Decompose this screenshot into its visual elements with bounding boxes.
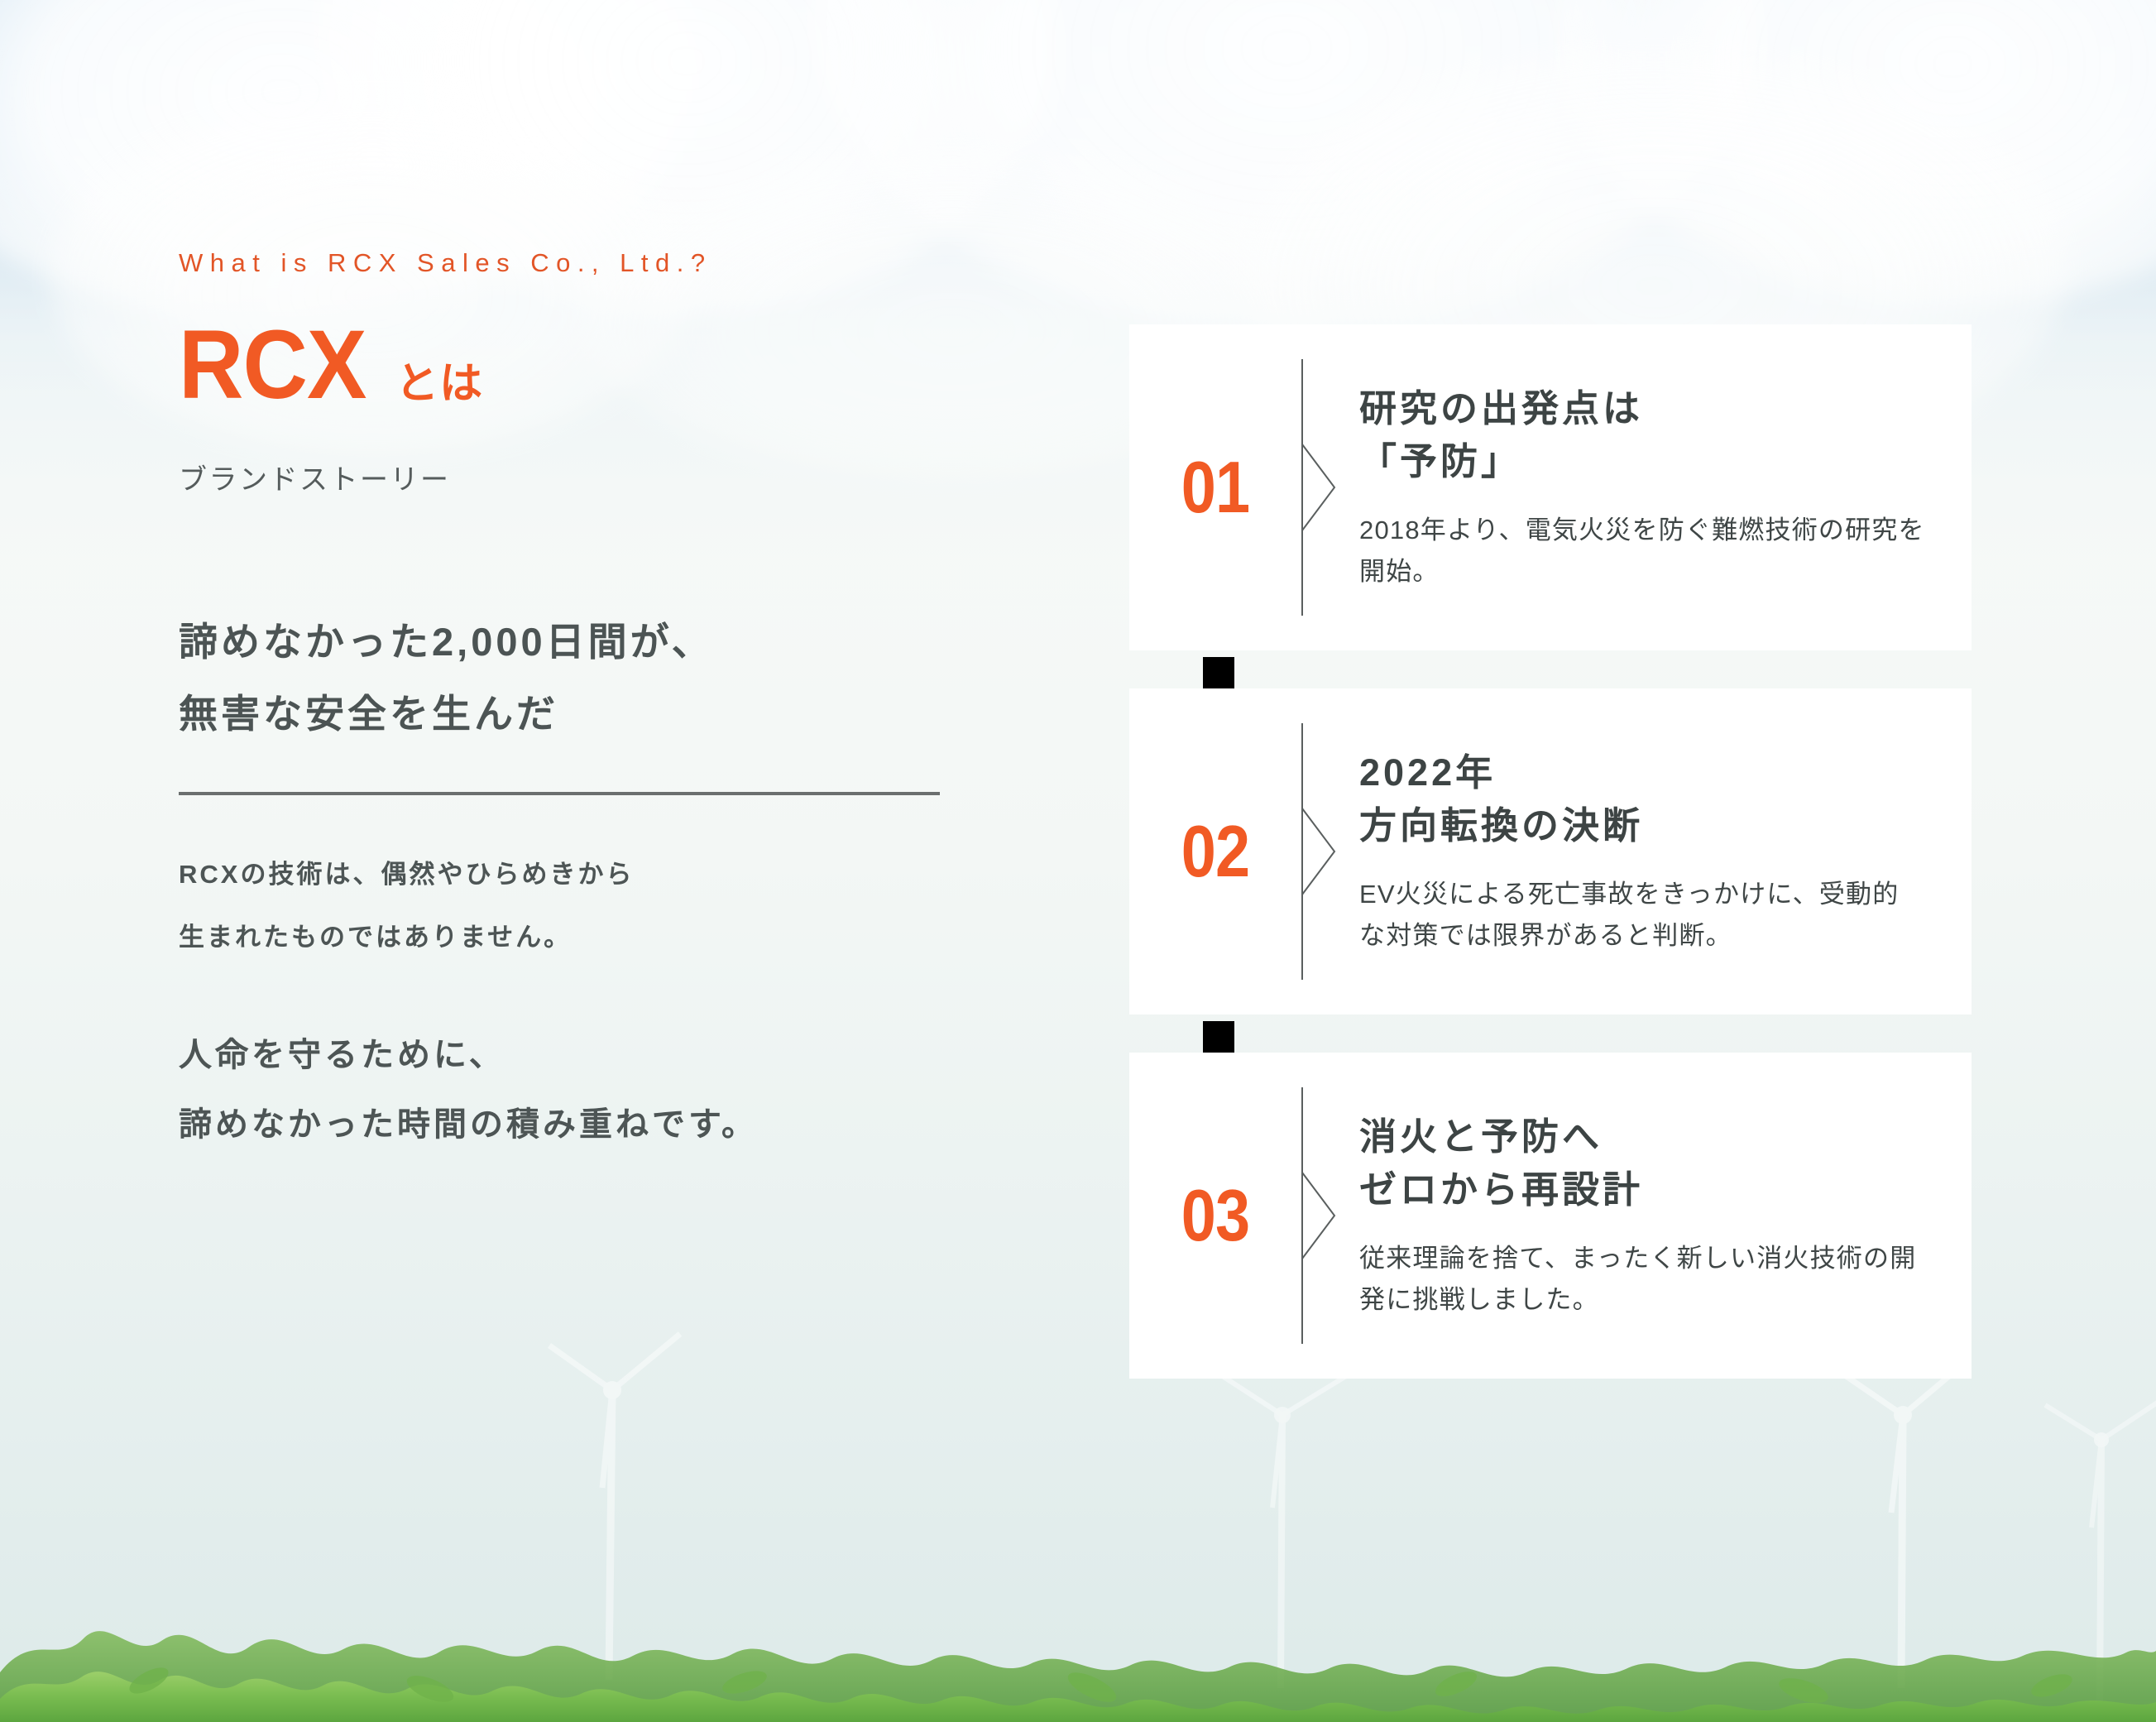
timeline-card-description: 従来理論を捨て、まったく新しい消火技術の開発に挑戦しました。	[1359, 1238, 1925, 1321]
timeline-card-title-line: 「予防」	[1359, 435, 1925, 488]
timeline-card-description: EV火災による死亡事故をきっかけに、受動的な対策では限界があると判断。	[1359, 874, 1925, 957]
timeline-card-title: 消火と予防へ ゼロから再設計	[1359, 1110, 1925, 1216]
body-paragraph-line: RCXの技術は、偶然やひらめきから	[179, 843, 1056, 906]
page-subtitle: ブランドストーリー	[179, 457, 1056, 497]
lede-line: 無害な安全を生んだ	[179, 679, 1056, 751]
closing-paragraph-line: 人命を守るために、	[179, 1020, 1056, 1090]
timeline-card-separator	[1301, 1087, 1344, 1344]
timeline-connector-square	[1203, 1021, 1234, 1053]
timeline-connector-square	[1203, 657, 1234, 688]
lede-block: 諦めなかった2,000日間が、 無害な安全を生んだ	[179, 607, 1056, 751]
timeline-card-number: 02	[1142, 809, 1290, 894]
timeline-card-title-line: ゼロから再設計	[1359, 1163, 1925, 1216]
timeline-card-title-line: 研究の出発点は	[1359, 382, 1925, 435]
timeline-card-number: 03	[1142, 1173, 1290, 1258]
timeline-card[interactable]: 03 消火と予防へ ゼロから再設計 従来理論を捨て、まったく新しい消火技術の開発…	[1129, 1053, 1972, 1379]
page-title-suffix: とは	[395, 348, 483, 410]
timeline-card-separator	[1301, 359, 1344, 616]
page-title-main: RCX	[179, 316, 366, 414]
page-title: RCX とは	[179, 316, 1056, 414]
closing-paragraph: 人命を守るために、 諦めなかった時間の積み重ねです。	[179, 1020, 1056, 1159]
chevron-right-icon	[1301, 443, 1338, 532]
foliage-band	[0, 1507, 2156, 1722]
slide-canvas: What is RCX Sales Co., Ltd.? RCX とは ブランド…	[0, 0, 2156, 1722]
timeline-card-body: 消火と予防へ ゼロから再設計 従来理論を捨て、まったく新しい消火技術の開発に挑戦…	[1344, 1110, 1972, 1321]
horizontal-divider	[179, 792, 940, 795]
timeline-card-separator	[1301, 723, 1344, 980]
body-paragraph: RCXの技術は、偶然やひらめきから 生まれたものではありません。	[179, 843, 1056, 969]
timeline-card-title: 研究の出発点は 「予防」	[1359, 382, 1925, 488]
timeline-card-body: 研究の出発点は 「予防」 2018年より、電気火災を防ぐ難燃技術の研究を開始。	[1344, 382, 1972, 592]
closing-paragraph-line: 諦めなかった時間の積み重ねです。	[179, 1090, 1056, 1159]
body-paragraph-line: 生まれたものではありません。	[179, 906, 1056, 969]
timeline-card-number: 01	[1142, 445, 1290, 530]
timeline-card-title-line: 消火と予防へ	[1359, 1110, 1925, 1163]
timeline-card[interactable]: 01 研究の出発点は 「予防」 2018年より、電気火災を防ぐ難燃技術の研究を開…	[1129, 324, 1972, 650]
timeline-card-title-line: 2022年	[1359, 746, 1925, 799]
timeline-card-title-line: 方向転換の決断	[1359, 799, 1925, 852]
timeline-card-body: 2022年 方向転換の決断 EV火災による死亡事故をきっかけに、受動的な対策では…	[1344, 746, 1972, 957]
lede-line: 諦めなかった2,000日間が、	[179, 607, 1056, 679]
left-content-column: What is RCX Sales Co., Ltd.? RCX とは ブランド…	[179, 248, 1056, 1159]
chevron-right-icon	[1301, 807, 1338, 896]
timeline-card-description: 2018年より、電気火災を防ぐ難燃技術の研究を開始。	[1359, 510, 1925, 592]
timeline-list: 01 研究の出発点は 「予防」 2018年より、電気火災を防ぐ難燃技術の研究を開…	[1129, 324, 1972, 1379]
timeline-card[interactable]: 02 2022年 方向転換の決断 EV火災による死亡事故をきっかけに、受動的な対…	[1129, 688, 1972, 1014]
eyebrow-text: What is RCX Sales Co., Ltd.?	[179, 248, 1056, 278]
timeline-card-title: 2022年 方向転換の決断	[1359, 746, 1925, 852]
chevron-right-icon	[1301, 1171, 1338, 1260]
